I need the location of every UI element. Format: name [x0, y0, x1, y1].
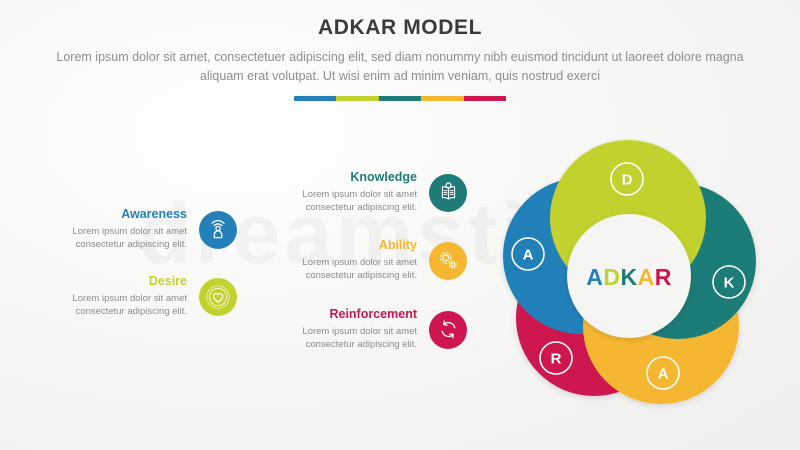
venn-center-label: ADKAR: [586, 264, 672, 290]
person-broadcast-icon: [199, 211, 237, 249]
info-label-ability: Ability: [252, 239, 417, 253]
rule-segment-2: [336, 96, 378, 101]
rule-segment-1: [294, 96, 336, 101]
venn-letter-reinforcement: R: [551, 351, 562, 368]
rule-segment-5: [464, 96, 506, 101]
info-item-desire[interactable]: Desire Lorem ipsum dolor sit amet consec…: [22, 275, 237, 318]
center-letter-a2: A: [638, 264, 655, 290]
center-letter-r: R: [655, 264, 672, 290]
venn-letter-knowledge: K: [724, 275, 735, 292]
venn-diagram: A D K A R ADKAR: [478, 128, 788, 428]
info-columns: Awareness Lorem ipsum dolor sit amet con…: [0, 160, 470, 410]
info-desc-knowledge: Lorem ipsum dolor sit amet consectetur a…: [252, 189, 417, 215]
venn-letter-awareness: A: [523, 247, 534, 264]
info-desc-awareness: Lorem ipsum dolor sit amet consectetur a…: [22, 226, 187, 252]
venn-letter-ability: A: [658, 366, 669, 383]
page-subtitle: Lorem ipsum dolor sit amet, consectetuer…: [50, 48, 750, 87]
info-text-awareness: Awareness Lorem ipsum dolor sit amet con…: [22, 208, 187, 251]
info-text-knowledge: Knowledge Lorem ipsum dolor sit amet con…: [252, 171, 417, 214]
rule-segment-3: [379, 96, 421, 101]
center-letter-d: D: [603, 264, 620, 290]
info-label-knowledge: Knowledge: [252, 171, 417, 185]
info-desc-reinforcement: Lorem ipsum dolor sit amet consectetur a…: [252, 326, 417, 352]
venn-letter-desire: D: [622, 172, 633, 189]
center-letter-a1: A: [586, 264, 603, 290]
info-desc-ability: Lorem ipsum dolor sit amet consectetur a…: [252, 257, 417, 283]
info-text-desire: Desire Lorem ipsum dolor sit amet consec…: [22, 275, 187, 318]
book-lightbulb-icon: [429, 174, 467, 212]
info-item-reinforcement[interactable]: Reinforcement Lorem ipsum dolor sit amet…: [252, 308, 467, 351]
info-desc-desire: Lorem ipsum dolor sit amet consectetur a…: [22, 293, 187, 319]
info-text-ability: Ability Lorem ipsum dolor sit amet conse…: [252, 239, 417, 282]
header: ADKAR MODEL Lorem ipsum dolor sit amet, …: [0, 0, 800, 101]
info-label-desire: Desire: [22, 275, 187, 289]
info-label-reinforcement: Reinforcement: [252, 308, 417, 322]
refresh-cycle-icon: [429, 311, 467, 349]
center-letter-k: K: [620, 264, 637, 290]
info-label-awareness: Awareness: [22, 208, 187, 222]
info-item-awareness[interactable]: Awareness Lorem ipsum dolor sit amet con…: [22, 208, 237, 251]
rule-segment-4: [421, 96, 463, 101]
page-title: ADKAR MODEL: [0, 16, 800, 40]
color-rule: [294, 96, 506, 101]
info-item-ability[interactable]: Ability Lorem ipsum dolor sit amet conse…: [252, 239, 467, 282]
info-text-reinforcement: Reinforcement Lorem ipsum dolor sit amet…: [252, 308, 417, 351]
info-item-knowledge[interactable]: Knowledge Lorem ipsum dolor sit amet con…: [252, 171, 467, 214]
gears-icon: [429, 242, 467, 280]
heart-rings-icon: [199, 278, 237, 316]
